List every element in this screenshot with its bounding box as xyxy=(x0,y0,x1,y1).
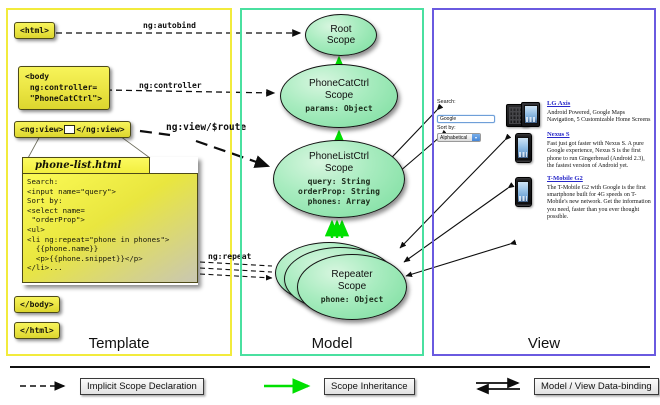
search-label: Search: xyxy=(437,99,497,106)
sort-select-value: Alphabetical xyxy=(440,135,472,141)
scope-root: Root Scope xyxy=(305,14,377,56)
edge-label-ng-autobind: ng:autobind xyxy=(143,21,196,30)
legend-item-data-binding: Model / View Data-binding xyxy=(472,376,659,396)
phone-snippet: Fast just got faster with Nexus S. A pur… xyxy=(547,141,653,171)
sort-select[interactable]: Alphabetical ▾ xyxy=(437,133,481,142)
phone-name-link[interactable]: T-Mobile G2 xyxy=(547,175,653,183)
edge-label-ng-view-route: ng:view/$route xyxy=(166,122,246,133)
phone-info: LG Axis Android Powered, Google Maps Nav… xyxy=(541,100,653,127)
tag-ng-view-close: </ng:view> xyxy=(76,125,124,134)
legend-item-scope-inheritance: Scope Inheritance xyxy=(262,376,415,396)
phone-snippet: Android Powered, Google Maps Navigation,… xyxy=(547,110,653,125)
panel-model-label: Model xyxy=(242,335,422,352)
tag-html-open: <html> xyxy=(14,22,55,39)
double-arrow-icon xyxy=(472,377,528,395)
phone-thumbnail xyxy=(505,131,541,171)
panel-view-label: View xyxy=(434,335,654,352)
phone-snippet: The T-Mobile G2 with Google is the first… xyxy=(547,185,653,222)
legend-label-implicit-scope: Implicit Scope Declaration xyxy=(80,378,204,395)
phone-list: LG Axis Android Powered, Google Maps Nav… xyxy=(505,100,653,226)
phone-thumbnail xyxy=(505,100,541,127)
legend: Implicit Scope Declaration Scope Inherit… xyxy=(0,374,660,402)
phone-screen xyxy=(517,181,529,203)
tag-body-close: </body> xyxy=(14,296,60,313)
view-search-form: Search: Sort by: Alphabetical ▾ xyxy=(437,99,497,142)
scope-repeater-name: Repeater Scope xyxy=(331,269,372,292)
legend-label-data-binding: Model / View Data-binding xyxy=(534,378,659,395)
list-item[interactable]: Nexus S Fast just got faster with Nexus … xyxy=(505,131,653,171)
slider-phone-icon xyxy=(506,102,540,127)
tag-ng-view: <ng:view></ng:view> xyxy=(14,121,131,138)
legend-item-implicit-scope: Implicit Scope Declaration xyxy=(18,376,204,396)
note-phone-list-html: phone-list.html Search: <input name="que… xyxy=(22,157,198,285)
phone-body xyxy=(521,102,540,127)
phone-info: T-Mobile G2 The T-Mobile G2 with Google … xyxy=(541,175,653,222)
phone-info: Nexus S Fast just got faster with Nexus … xyxy=(541,131,653,171)
list-item[interactable]: T-Mobile G2 The T-Mobile G2 with Google … xyxy=(505,175,653,222)
scope-phonecatctrl: PhoneCatCtrl Scope params: Object xyxy=(280,64,398,128)
dashed-arrow-icon xyxy=(18,377,74,395)
scope-repeater: Repeater Scope phone: Object xyxy=(297,254,407,320)
legend-divider xyxy=(10,366,650,368)
scope-phonelistctrl-props: query: String orderProp: String phones: … xyxy=(298,177,380,207)
scope-repeater-props: phone: Object xyxy=(321,295,384,305)
list-item[interactable]: LG Axis Android Powered, Google Maps Nav… xyxy=(505,100,653,127)
tag-ng-view-open: <ng:view> xyxy=(20,125,63,134)
scope-root-name: Root Scope xyxy=(327,24,355,47)
bar-phone-icon xyxy=(515,133,532,163)
tag-body-open: <body ng:controller= "PhoneCatCtrl"> xyxy=(18,66,110,110)
scope-phonelistctrl: PhoneListCtrl Scope query: String orderP… xyxy=(273,140,405,218)
sort-label: Sort by: xyxy=(437,125,497,132)
phone-screen xyxy=(517,137,529,159)
phone-name-link[interactable]: Nexus S xyxy=(547,131,653,139)
bar-phone-icon xyxy=(515,177,532,207)
chevron-down-icon: ▾ xyxy=(472,133,480,142)
phone-screen xyxy=(524,105,538,124)
edge-label-ng-controller: ng:controller xyxy=(139,81,202,90)
legend-label-scope-inheritance: Scope Inheritance xyxy=(324,378,415,395)
search-input[interactable] xyxy=(437,115,495,123)
note-title: phone-list.html xyxy=(22,157,150,173)
scope-repeater-stack: Repeater Scope phone: Object xyxy=(275,232,407,328)
scope-phonecatctrl-props: params: Object xyxy=(305,104,372,114)
phone-thumbnail xyxy=(505,175,541,222)
green-arrow-icon xyxy=(262,377,318,395)
note-code: Search: <input name="query"> Sort by: <s… xyxy=(22,173,198,283)
tag-html-close: </html> xyxy=(14,322,60,339)
scope-phonelistctrl-name: PhoneListCtrl Scope xyxy=(309,151,369,174)
scope-phonecatctrl-name: PhoneCatCtrl Scope xyxy=(309,78,369,101)
ng-view-slot-icon xyxy=(64,125,75,134)
angular-mvc-diagram: Template <html> <body ng:controller= "Ph… xyxy=(0,0,660,405)
phone-name-link[interactable]: LG Axis xyxy=(547,100,653,108)
